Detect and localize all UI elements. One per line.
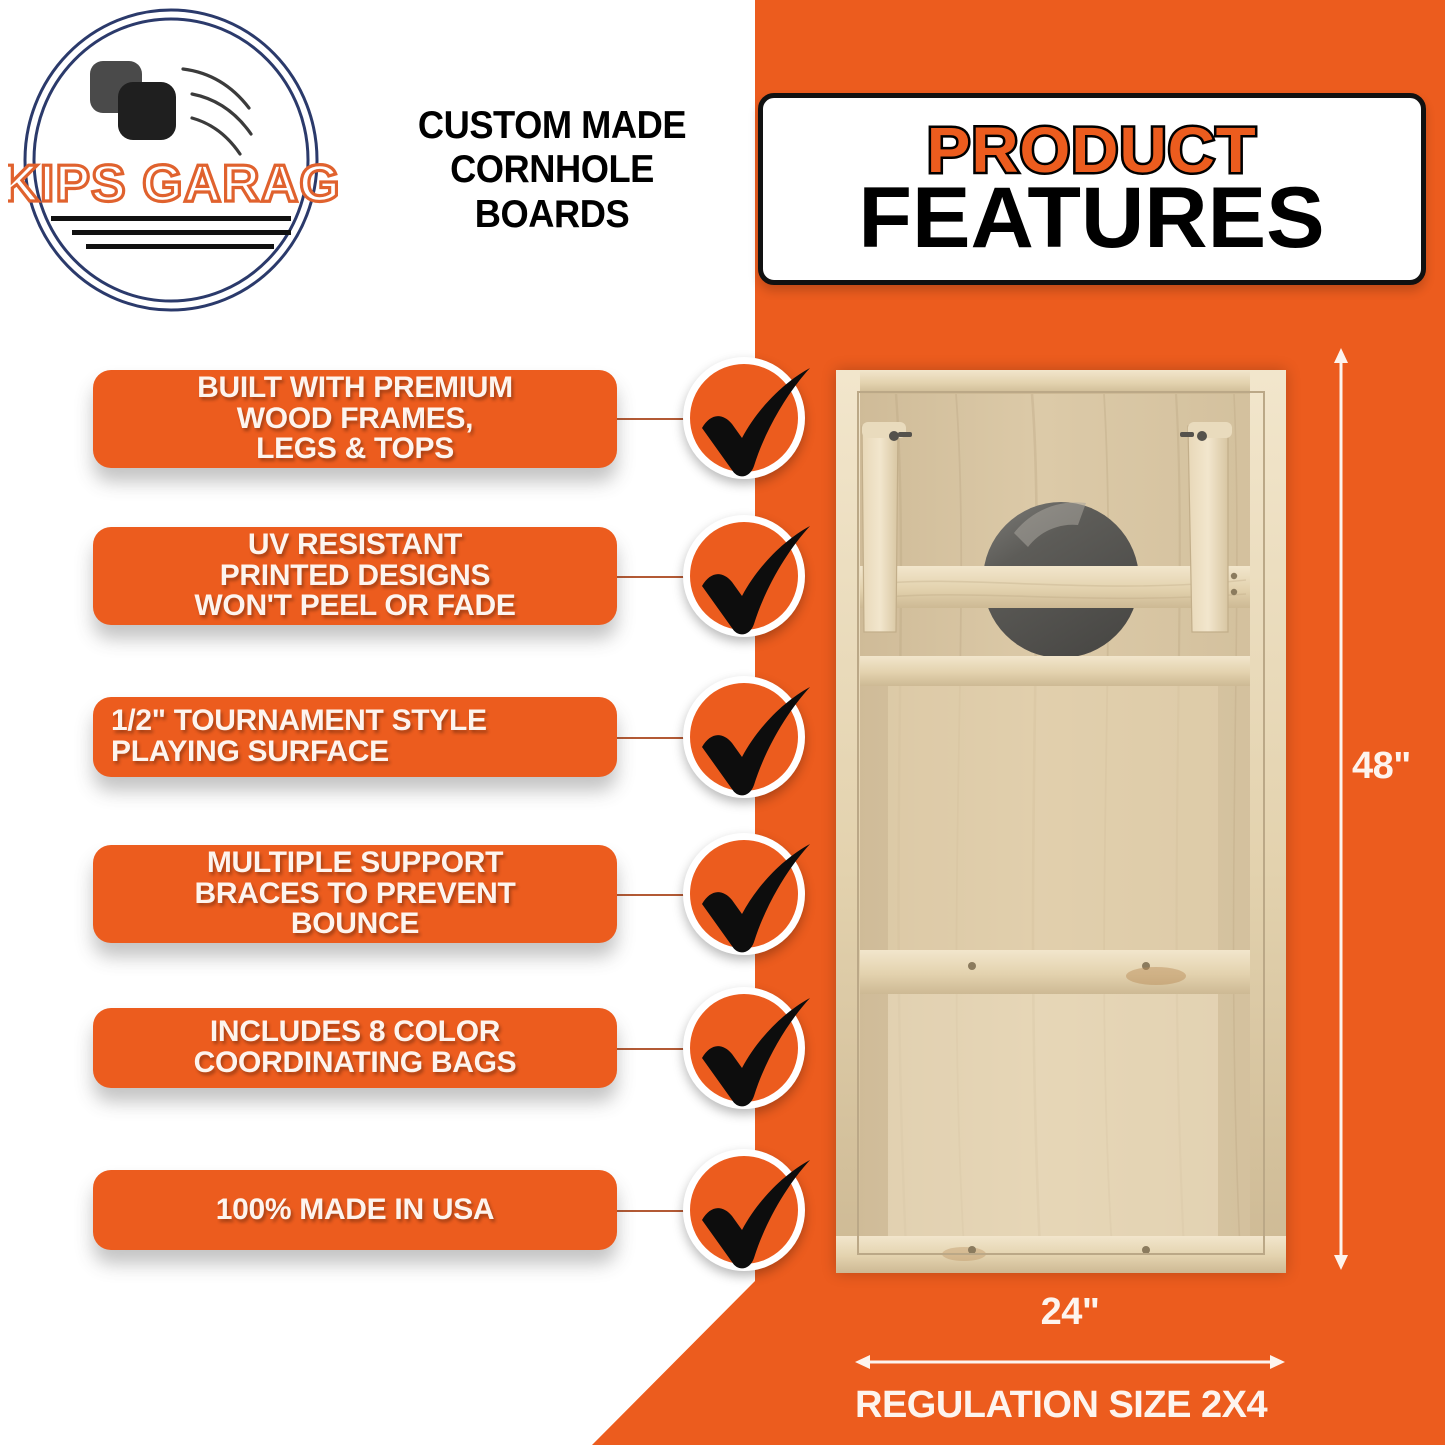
width-dimension-label: 24" bbox=[855, 1291, 1285, 1334]
feature-pill[interactable]: BUILT WITH PREMIUMWOOD FRAMES,LEGS & TOP… bbox=[93, 370, 617, 468]
regulation-size-note: REGULATION SIZE 2X4 bbox=[855, 1384, 1415, 1427]
feature-pill-label: BUILT WITH PREMIUMWOOD FRAMES,LEGS & TOP… bbox=[197, 373, 513, 466]
check-badge bbox=[683, 833, 805, 955]
feature-pill[interactable]: UV RESISTANTPRINTED DESIGNSWON'T PEEL OR… bbox=[93, 527, 617, 625]
feature-pill-label: UV RESISTANTPRINTED DESIGNSWON'T PEEL OR… bbox=[194, 530, 515, 623]
feature-pill[interactable]: INCLUDES 8 COLORCOORDINATING BAGS bbox=[93, 1008, 617, 1088]
check-badge bbox=[683, 987, 805, 1109]
logo-wordmark: SKIPS GARAGE bbox=[8, 155, 338, 213]
check-badge bbox=[683, 1149, 805, 1271]
height-dimension-label: 48" bbox=[1352, 745, 1411, 788]
checkmark-icon bbox=[676, 342, 826, 492]
product-features-badge: PRODUCT FEATURES bbox=[758, 93, 1426, 285]
height-dimension-arrow bbox=[1338, 348, 1344, 1270]
check-badge bbox=[683, 515, 805, 637]
check-badge bbox=[683, 357, 805, 479]
headline-line-1: CUSTOM MADE bbox=[366, 104, 738, 148]
check-badge bbox=[683, 676, 805, 798]
feature-pill-label: INCLUDES 8 COLORCOORDINATING BAGS bbox=[194, 1017, 517, 1079]
checkmark-icon bbox=[676, 818, 826, 968]
checkmark-icon bbox=[676, 1134, 826, 1284]
headline-line-2: CORNHOLE bbox=[366, 148, 738, 192]
width-dimension-arrow bbox=[855, 1355, 1285, 1369]
headline-line-3: BOARDS bbox=[366, 193, 738, 237]
page-title: CUSTOM MADE CORNHOLE BOARDS bbox=[366, 104, 738, 237]
cornhole-board-photo bbox=[836, 370, 1286, 1273]
checkmark-icon bbox=[676, 661, 826, 811]
checkmark-icon bbox=[676, 972, 826, 1122]
badge-word-features: FEATURES bbox=[859, 178, 1325, 260]
skips-garage-logo: SKIPS GARAGE bbox=[8, 6, 338, 314]
feature-pill[interactable]: MULTIPLE SUPPORTBRACES TO PREVENTBOUNCE bbox=[93, 845, 617, 943]
feature-pill[interactable]: 1/2" TOURNAMENT STYLEPLAYING SURFACE bbox=[93, 697, 617, 777]
checkmark-icon bbox=[676, 500, 826, 650]
feature-pill[interactable]: 100% MADE IN USA bbox=[93, 1170, 617, 1250]
feature-pill-label: 1/2" TOURNAMENT STYLEPLAYING SURFACE bbox=[111, 706, 599, 768]
feature-pill-label: 100% MADE IN USA bbox=[216, 1195, 495, 1226]
feature-pill-label: MULTIPLE SUPPORTBRACES TO PREVENTBOUNCE bbox=[194, 848, 515, 941]
